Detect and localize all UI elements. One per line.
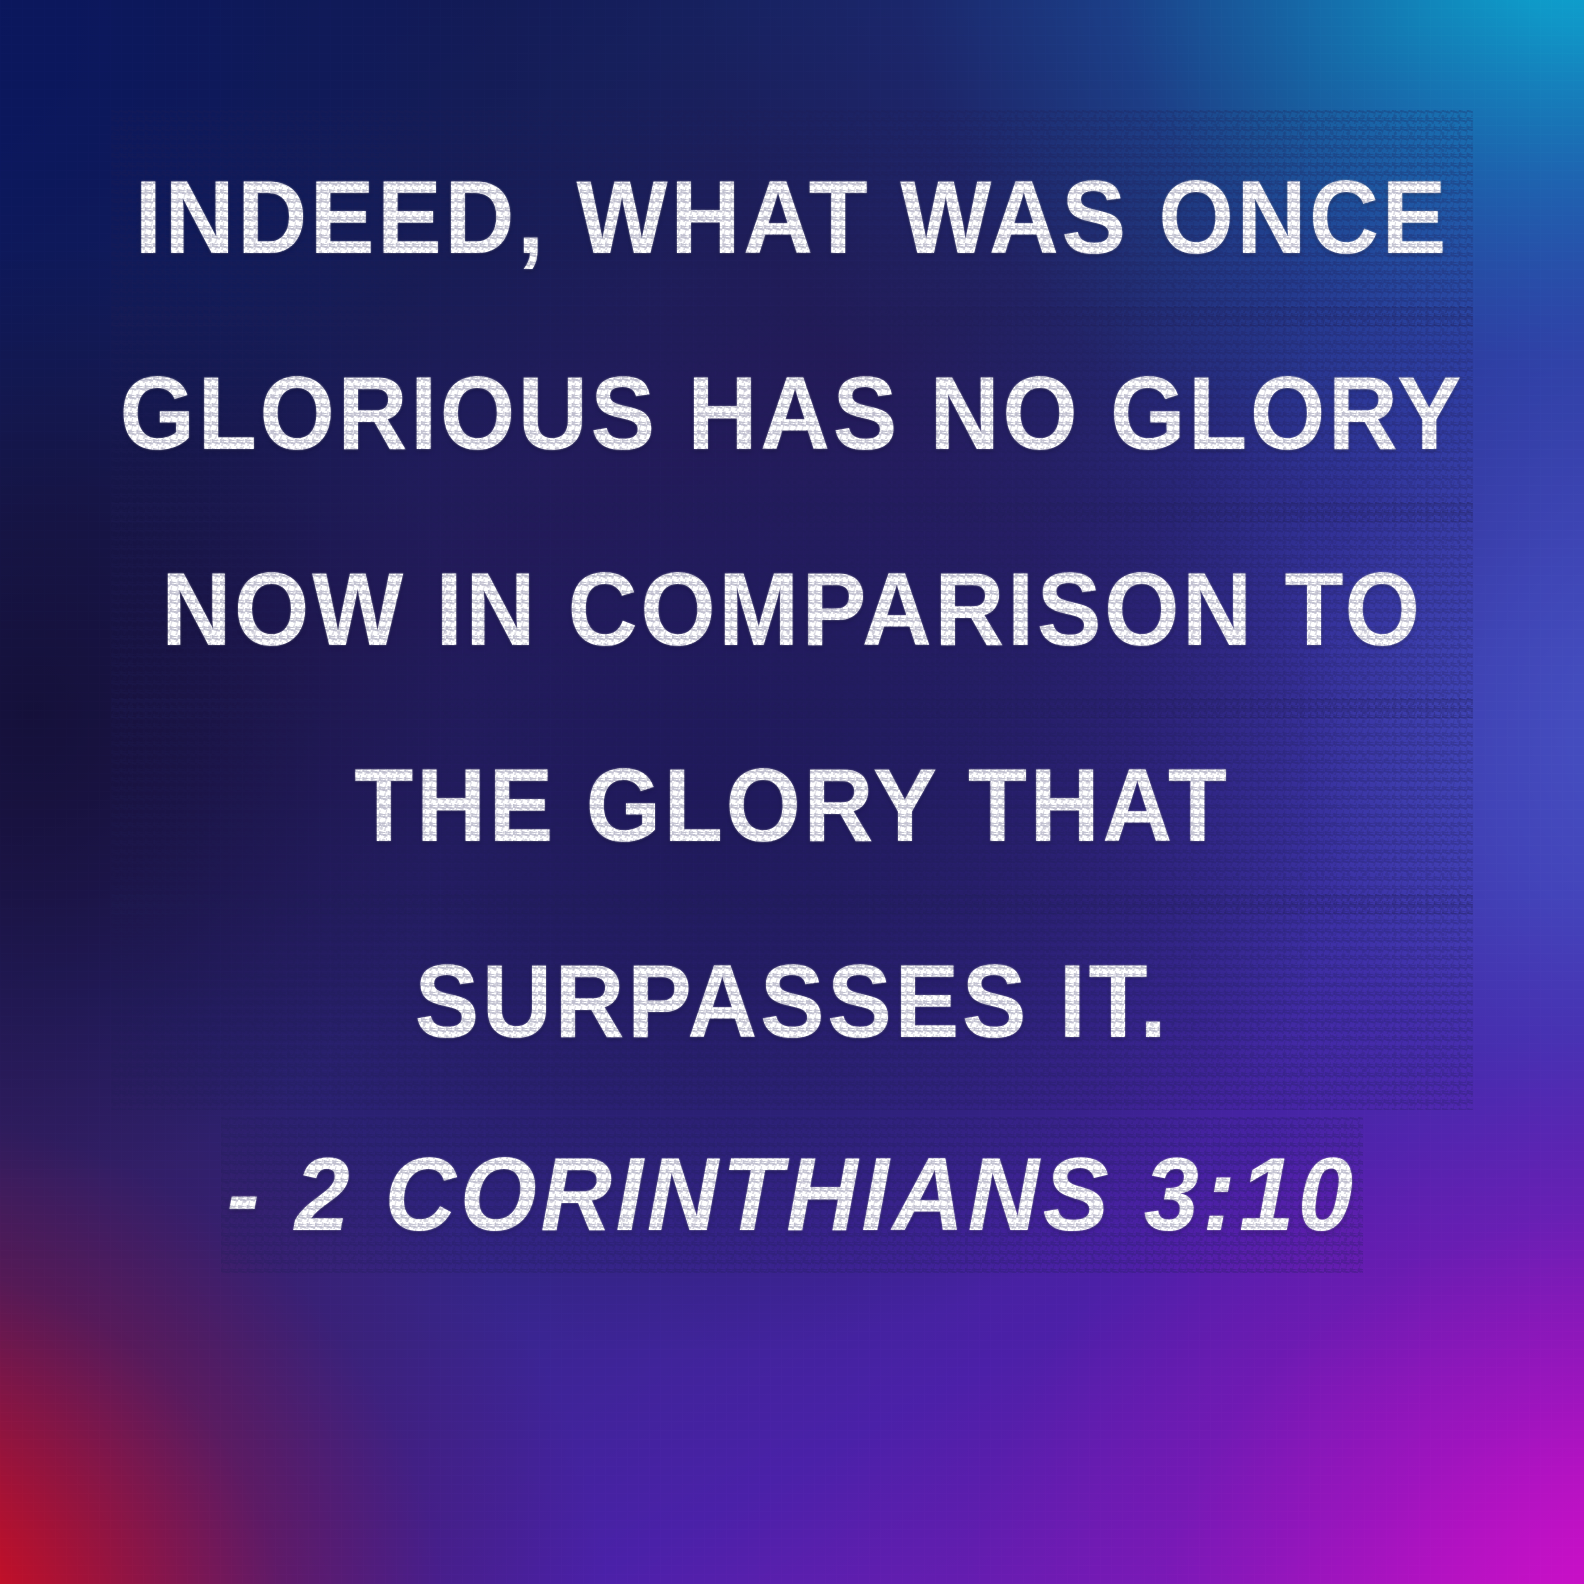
attribution-block: - 2 CORINTHIANS 3:10: [0, 1125, 1584, 1265]
quote-line-2: GLORIOUS HAS NO GLORY: [111, 316, 1473, 512]
scripture-reference: - 2 CORINTHIANS 3:10: [227, 1125, 1357, 1265]
quote-line-5: SURPASSES IT.: [111, 904, 1473, 1100]
quote-line-1: INDEED, WHAT WAS ONCE: [111, 120, 1473, 316]
quote-poster: INDEED, WHAT WAS ONCE GLORIOUS HAS NO GL…: [0, 0, 1584, 1584]
quote-text-block: INDEED, WHAT WAS ONCE GLORIOUS HAS NO GL…: [0, 120, 1584, 1100]
quote-line-3: NOW IN COMPARISON TO: [111, 512, 1473, 708]
quote-line-4: THE GLORY THAT: [111, 708, 1473, 904]
